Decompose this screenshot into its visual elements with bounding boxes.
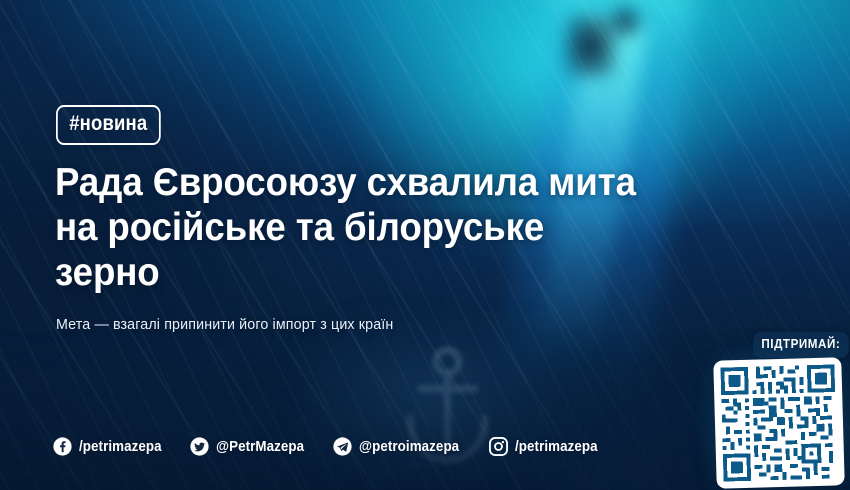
telegram-icon — [333, 437, 352, 456]
twitter-icon — [190, 437, 209, 456]
social-link-twitter[interactable]: @PetrMazepa — [190, 437, 312, 456]
qr-code[interactable] — [713, 357, 845, 489]
social-handle-facebook: /petrimazepa — [79, 439, 162, 455]
card-content: #новина Рада Євросоюзу схвалила мита на … — [0, 0, 850, 490]
social-link-instagram[interactable]: /petrimazepa — [489, 437, 605, 456]
social-handle-twitter: @PetrMazepa — [216, 439, 304, 455]
news-card: #новина Рада Євросоюзу схвалила мита на … — [0, 0, 850, 490]
page-title: Рада Євросоюзу схвалила мита на російськ… — [55, 160, 695, 296]
news-tag-badge[interactable]: #новина — [56, 105, 161, 145]
social-handle-instagram: /petrimazepa — [515, 439, 598, 455]
social-handle-telegram: @petroimazepa — [359, 439, 459, 455]
subtitle: Мета — взагалі припинити його імпорт з ц… — [56, 315, 393, 335]
support-block: ПІДТРИМАЙ: — [705, 332, 850, 490]
support-label: ПІДТРИМАЙ: — [753, 332, 849, 358]
social-link-telegram[interactable]: @petroimazepa — [333, 437, 468, 456]
social-link-facebook[interactable]: /petrimazepa — [53, 437, 169, 456]
headline-line-2: на російське та білоруське зерно — [55, 205, 657, 295]
headline-line-1: Рада Євросоюзу схвалила мита — [55, 160, 657, 205]
instagram-icon — [489, 437, 508, 456]
social-links: /petrimazepa @PetrMazepa — [53, 437, 604, 456]
facebook-icon — [53, 437, 72, 456]
